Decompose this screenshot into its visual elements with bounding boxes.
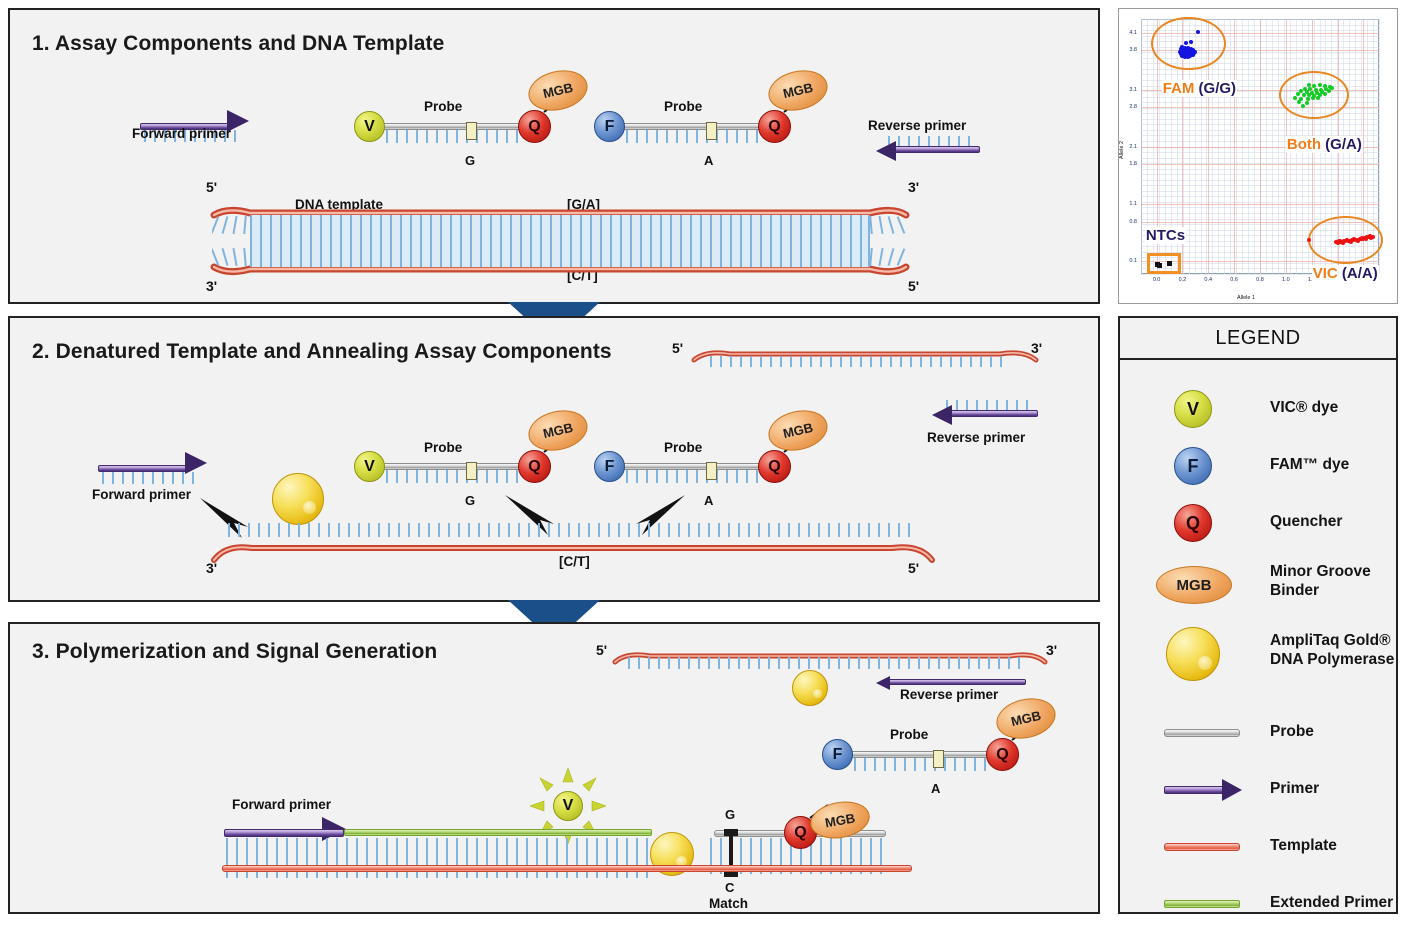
p2-reverse-primer-arrowhead [932,405,952,425]
p2-vic-probe-bar [382,463,528,470]
template-5prime-left: 5' [206,179,217,195]
extended-primer-bar-icon [1150,877,1242,929]
data-point [1316,96,1320,100]
legend-item-quencher: Q Quencher [1120,496,1396,548]
y-tick-label: 3.1 [1121,87,1137,93]
y-tick-label: 4.1 [1121,30,1137,36]
x-axis-title: Allele 1 [1237,295,1255,301]
legend-title: LEGEND [1215,327,1300,350]
p2-fam-base-marker [706,462,717,480]
p2-fam-probe-teeth [624,470,764,483]
legend-item-probe: Probe [1120,706,1396,758]
template-3prime-left: 3' [206,278,217,294]
p3-vic-dye-sphere: V [553,791,583,821]
p3-forward-primer-label: Forward primer [232,797,331,812]
p3-extended-primer-bar [344,829,652,836]
y-tick-label: 3.8 [1121,47,1137,53]
p2-bottom-allele: [C/T] [559,554,590,569]
ntc-highlight-box [1147,253,1181,274]
reverse-primer-bar [890,146,980,153]
data-point [1349,240,1353,244]
p3-fam-probe-bar [850,751,996,758]
panel-2-title: 2. Denatured Template and Annealing Assa… [32,340,612,364]
mgb-ellipse-icon: MGB [1150,556,1242,608]
dna-duplex-frayed-left-bottom [212,248,252,266]
vic-dye-sphere: V [354,111,385,142]
p3-fam-probe-label: Probe [890,727,928,742]
quencher-sphere: Q [1174,504,1212,542]
forward-primer-label: Forward primer [132,126,231,141]
p2-forward-primer-label: Forward primer [92,487,191,502]
fam-dye-sphere: F [1174,447,1212,485]
legend-item-label: AmpliTaq Gold® DNA Polymerase [1270,618,1396,684]
extended-primer-bar [1164,900,1240,908]
legend-item-template: Template [1120,820,1396,872]
vic-probe-quencher: Q [518,110,551,143]
legend-item-label: Minor Groove Binder [1270,556,1385,608]
p3-fam-dye-sphere: F [822,739,853,770]
p2-fam-mgb-ellipse: MGB [764,405,831,456]
panel-3-title: 3. Polymerization and Signal Generation [32,640,437,664]
plot-overlay: 0.10.81.11.82.12.83.13.84.10.00.20.40.60… [1119,9,1397,303]
data-point [1307,238,1311,242]
x-tick-label: 0.0 [1153,277,1161,283]
data-point [1318,83,1322,87]
template-5prime-right: 5' [908,278,919,294]
x-tick-label: 1.0 [1282,277,1290,283]
p2-top-strand-5prime: 5' [672,340,683,356]
data-point [1302,93,1306,97]
y-tick-label: 1.8 [1121,161,1137,167]
data-point [1371,235,1375,239]
p2-fam-dye-sphere: F [594,451,625,482]
p3-fam-probe-teeth [852,758,990,771]
dna-duplex-rungs [250,215,870,267]
p2-vic-probe-label: Probe [424,440,462,455]
y-axis-title: Allele 2 [1119,141,1125,159]
vic-probe-base-g: G [465,153,475,168]
p2-top-strand-teeth [710,356,1010,367]
vic-mgb-ellipse: MGB [524,65,591,116]
vic-probe-bar [382,123,528,130]
p3-match-base-c: C [725,880,734,895]
p3-reverse-primer-bar [884,679,1026,685]
gridline-major-vertical [1260,19,1261,274]
reverse-primer-arrowhead [876,141,896,161]
p2-forward-primer-teeth [100,472,198,484]
data-point [1323,92,1327,96]
probe-bar [1164,729,1240,737]
x-tick-label: 0.8 [1256,277,1264,283]
gridline-major-vertical [1234,19,1235,274]
legend-polymerase-label: AmpliTaq Gold® DNA Polymerase [1270,632,1396,670]
template-bar [1164,843,1240,851]
p2-fam-probe-bar [622,463,768,470]
legend-item-label: Primer [1270,763,1319,815]
y-tick-label: 2.8 [1121,104,1137,110]
mgb-ellipse: MGB [1156,566,1232,604]
data-point [1341,241,1345,245]
p3-fam-base-marker [933,750,944,768]
fam-probe-label: Probe [664,99,702,114]
p3-fam-mgb-ellipse: MGB [992,693,1059,744]
legend-item-label: VIC® dye [1270,382,1338,434]
legend-panel: LEGEND V VIC® dye F FAM™ dye Q Quencher … [1118,316,1398,914]
p3-bottom-template-bar [222,865,912,872]
template-3prime-right: 3' [908,179,919,195]
fam-probe-bar [622,123,768,130]
fam-dye-sphere-icon: F [1150,439,1242,491]
quencher-sphere-icon: Q [1150,496,1242,548]
p2-fam-quencher: Q [758,450,791,483]
p3-reverse-primer-label: Reverse primer [900,687,998,702]
probe-bar-icon [1150,706,1242,758]
y-tick-label: 0.1 [1121,258,1137,264]
vic-probe-base-marker [466,122,477,140]
legend-item-label: Template [1270,820,1337,872]
legend-item-vic: V VIC® dye [1120,382,1396,434]
dna-duplex-frayed-left-top [212,216,252,234]
p2-vic-base-marker [466,462,477,480]
legend-item-polymerase: AmpliTaq Gold® DNA Polymerase [1120,618,1396,684]
panel-assay-components: 1. Assay Components and DNA Template For… [8,8,1100,304]
legend-item-label: FAM™ dye [1270,439,1349,491]
x-tick-label: 0.4 [1204,277,1212,283]
p3-match-base-g: G [725,807,735,822]
p3-top-strand-teeth [628,657,1032,669]
p2-vic-mgb-ellipse: MGB [524,405,591,456]
vic-probe-label: Probe [424,99,462,114]
cluster-label: Both (G/A) [1286,136,1363,153]
data-point [1157,263,1162,268]
data-point [1167,261,1172,266]
p2-bottom-5prime: 5' [908,560,919,576]
data-point [1191,53,1195,57]
p3-fam-base-a: A [931,781,940,796]
polymerase-sphere-icon [1150,618,1242,684]
allelic-discrimination-plot[interactable]: 0.10.81.11.82.12.83.13.84.10.00.20.40.60… [1118,8,1398,304]
p2-forward-primer-bar [98,465,190,472]
data-point [1193,50,1197,54]
p2-vic-dye-sphere: V [354,451,385,482]
fam-probe-teeth [624,130,764,143]
template-bar-icon [1150,820,1242,872]
fam-mgb-ellipse: MGB [764,65,831,116]
legend-item-primer: Primer [1120,763,1396,815]
panel-1-title: 1. Assay Components and DNA Template [32,32,444,56]
p2-forward-primer-arrowhead [185,452,207,474]
p3-match-label: Match [709,896,748,911]
legend-item-label: Probe [1270,706,1314,758]
y-tick-label: 1.1 [1121,201,1137,207]
legend-item-extended-primer: Extended Primer [1120,877,1396,929]
fam-probe-base-a: A [704,153,713,168]
p3-fam-quencher: Q [986,738,1019,771]
cluster-label: NTCs [1145,227,1186,244]
data-point [1307,83,1311,87]
p3-reverse-primer-arrowhead [876,676,890,690]
p2-bottom-3prime: 3' [206,560,217,576]
panel-denatured-template: 2. Denatured Template and Annealing Assa… [8,316,1100,602]
vic-dye-sphere: V [1174,390,1212,428]
polymerase-sphere [1166,627,1220,681]
data-point [1196,30,1200,34]
reverse-primer-label: Reverse primer [868,118,966,133]
data-point [1305,101,1309,105]
cluster-label: VIC (A/A) [1312,265,1379,282]
vic-dye-sphere-icon: V [1150,382,1242,434]
p2-vic-probe-teeth [384,470,524,483]
p3-strand-5prime: 5' [596,642,607,658]
panel-polymerization: 3. Polymerization and Signal Generation … [8,622,1100,914]
cluster-label: FAM (G/G) [1162,80,1237,97]
p3-extension-rungs [226,838,656,878]
vic-probe-teeth [384,130,524,143]
x-tick-label: 0.2 [1179,277,1187,283]
y-tick-label: 0.8 [1121,219,1137,225]
p2-fam-probe-label: Probe [664,440,702,455]
x-tick-label: 0.6 [1230,277,1238,283]
p3-polymerase-top [792,670,828,706]
fam-probe-base-marker [706,122,717,140]
dna-duplex-frayed-right-bottom [868,248,908,266]
legend-mgb-label: Minor Groove Binder [1270,563,1385,601]
legend-item-label: Extended Primer [1270,877,1393,929]
p3-forward-primer-bar [224,829,344,837]
primer-bar-arrow-icon [1150,763,1242,815]
primer-arrowhead [1222,779,1242,801]
legend-item-fam: F FAM™ dye [1120,439,1396,491]
p2-reverse-primer-bar [946,410,1038,417]
legend-item-label: Quencher [1270,496,1342,548]
dna-duplex-frayed-right-top [868,216,908,234]
data-point [1301,104,1305,108]
legend-header: LEGEND [1120,318,1396,360]
p2-reverse-primer-label: Reverse primer [927,430,1025,445]
p2-vic-quencher: Q [518,450,551,483]
fam-probe-quencher: Q [758,110,791,143]
fam-dye-sphere: F [594,111,625,142]
legend-item-mgb: MGB Minor Groove Binder [1120,556,1396,608]
